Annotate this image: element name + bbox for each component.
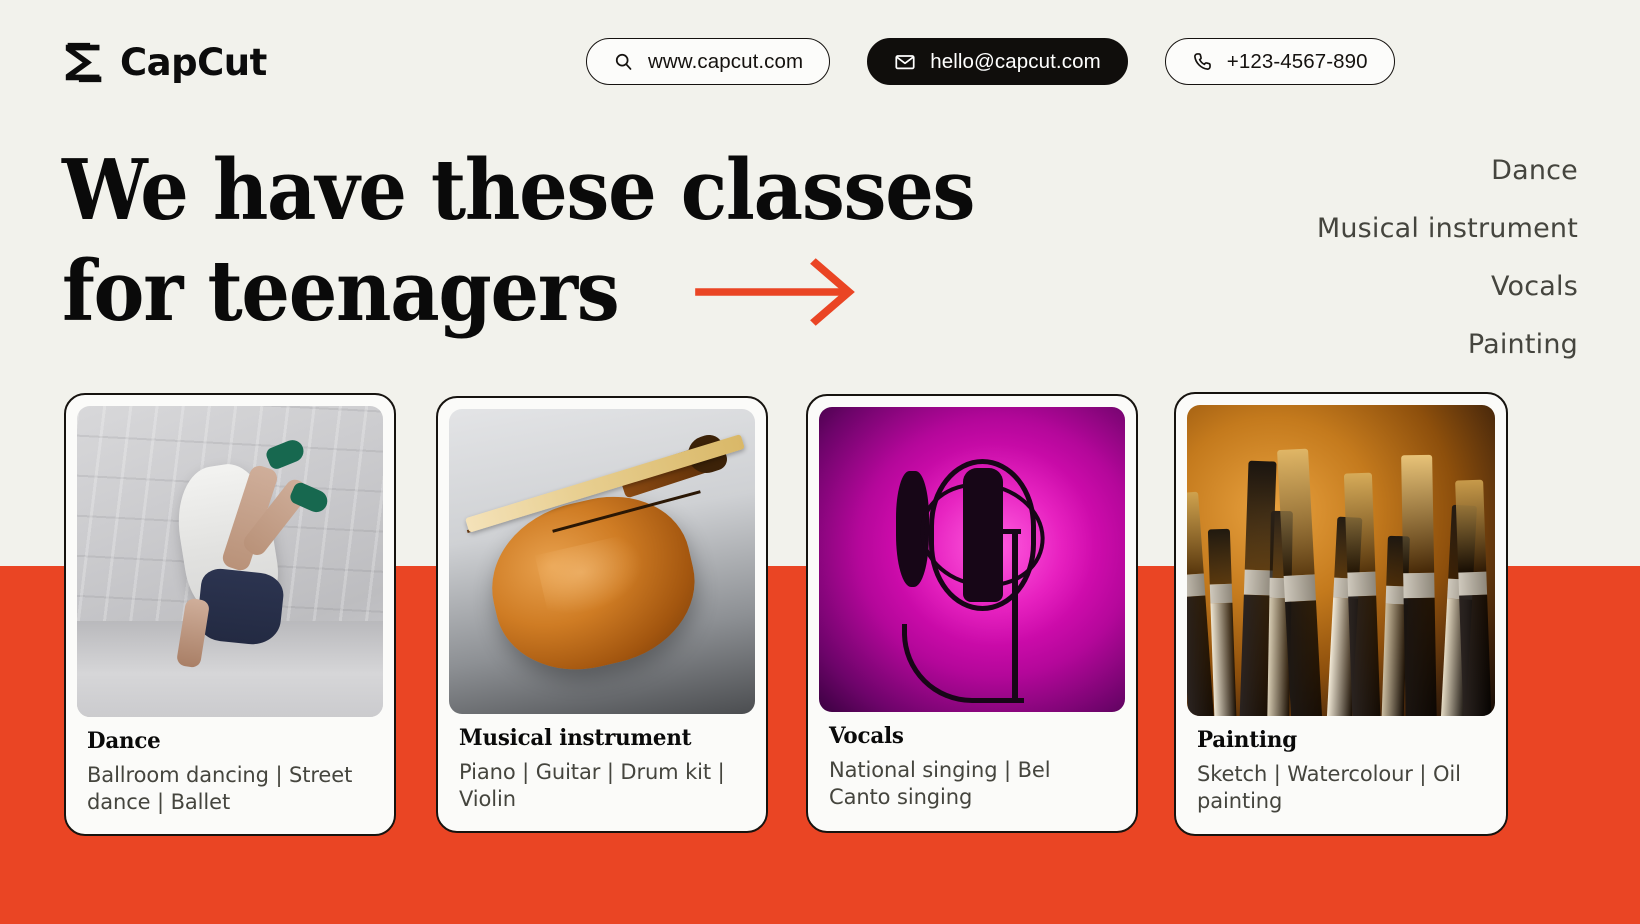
class-card-painting-image: [1187, 405, 1495, 716]
class-card-description: Ballroom dancing | Street dance | Ballet: [87, 762, 373, 816]
class-card-vocals[interactable]: Vocals National singing | Bel Canto sing…: [806, 394, 1138, 833]
class-card-painting[interactable]: Painting Sketch | Watercolour | Oil pain…: [1174, 392, 1508, 836]
class-card-dance-image: [77, 406, 383, 717]
class-card-title: Musical instrument: [459, 726, 731, 752]
class-card-grid: Dance Ballroom dancing | Street dance | …: [0, 0, 1640, 924]
class-card-title: Vocals: [829, 724, 1101, 750]
class-card-description: Sketch | Watercolour | Oil painting: [1197, 761, 1485, 815]
class-card-title: Painting: [1197, 728, 1471, 754]
class-card-musical-instrument-body: Musical instrument Piano | Guitar | Drum…: [449, 714, 755, 813]
class-card-dance-body: Dance Ballroom dancing | Street dance | …: [77, 717, 383, 816]
poster-canvas: CapCut www.capcut.com hello@capcut.com: [0, 0, 1640, 924]
class-card-painting-body: Painting Sketch | Watercolour | Oil pain…: [1187, 716, 1495, 815]
class-card-musical-instrument-image: [449, 409, 755, 714]
paint-brush-shape: [1401, 455, 1437, 716]
class-card-vocals-image: [819, 407, 1125, 712]
class-card-description: Piano | Guitar | Drum kit | Violin: [459, 759, 745, 813]
class-card-vocals-body: Vocals National singing | Bel Canto sing…: [819, 712, 1125, 811]
class-card-title: Dance: [87, 729, 359, 755]
class-card-musical-instrument[interactable]: Musical instrument Piano | Guitar | Drum…: [436, 396, 768, 833]
class-card-dance[interactable]: Dance Ballroom dancing | Street dance | …: [64, 393, 396, 836]
paint-brush-shape: [1208, 529, 1237, 716]
class-card-description: National singing | Bel Canto singing: [829, 757, 1115, 811]
